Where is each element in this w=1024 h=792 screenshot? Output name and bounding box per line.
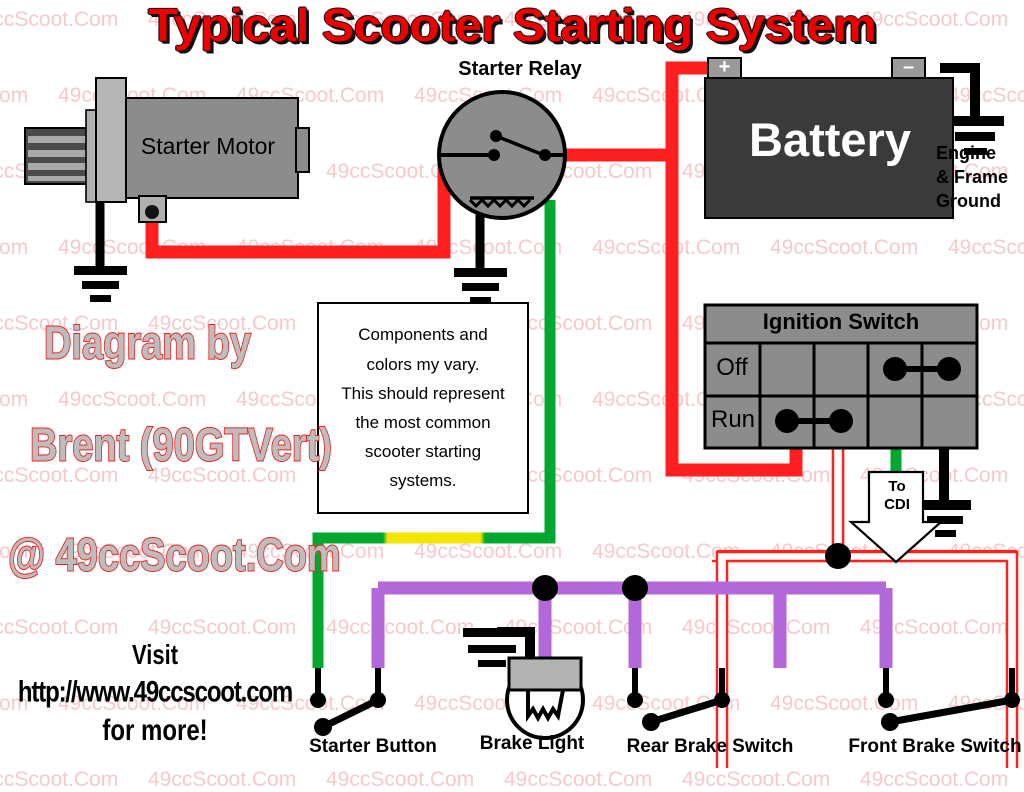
watermark-text: 49ccScoot.Com (504, 768, 652, 792)
diagram-canvas: 49ccScoot.Com49ccScoot.Com49ccScoot.Com4… (0, 0, 1024, 768)
switch-front-brake[interactable] (878, 668, 1020, 731)
component-starter-relay (439, 92, 566, 218)
page-title: Typical Scooter Starting System (0, 0, 1024, 52)
credit-line-2: Brent (90GTVert) (30, 420, 332, 472)
watermark-text: 49ccScoot.Com (148, 768, 296, 792)
note-line-5: scooter starting (365, 437, 481, 466)
junction-dot-rear-brake (622, 575, 648, 601)
note-line-6: systems. (389, 466, 456, 495)
engine-ground-line2: & Frame (936, 167, 1008, 187)
watermark-text: 49ccScoot.Com (860, 768, 1008, 792)
cdi-line2: CDI (884, 496, 910, 513)
component-brake-light (507, 658, 583, 738)
ground-starter-motor (74, 186, 127, 302)
visit-line-3: for more! (0, 714, 310, 749)
battery-negative-terminal-label: – (896, 56, 921, 79)
wire-red-white-fill-2 (722, 450, 1012, 768)
cdi-line1: To (888, 478, 905, 495)
visit-url[interactable]: http://www.49ccscoot.com (6, 675, 304, 710)
wire-red-white-outline-final (717, 448, 1017, 768)
visit-block: Visit http://www.49ccscoot.com for more! (0, 642, 310, 745)
engine-ground-label: Engine & Frame Ground (936, 142, 1024, 214)
starter-motor-label: Starter Motor (118, 133, 298, 160)
battery-positive-terminal-label: + (712, 56, 737, 79)
junction-dot-brake-light (532, 575, 558, 601)
credit-line-1: Diagram by (44, 318, 251, 370)
starter-relay-label: Starter Relay (420, 58, 620, 81)
junction-dot-red-white (825, 543, 851, 569)
ignition-row-off-label: Off (708, 354, 756, 382)
wire-red-white-outline-top (712, 448, 1017, 768)
note-line-2: colors my vary. (366, 350, 479, 379)
wire-red-white-fill (722, 448, 1012, 768)
rear-brake-switch-label: Rear Brake Switch (600, 736, 820, 758)
note-line-4: the most common (355, 408, 490, 437)
engine-ground-line3: Ground (936, 191, 1001, 211)
note-box: Components and colors my vary. This shou… (317, 302, 529, 514)
wire-relay-to-battery-positive (560, 68, 722, 155)
ignition-switch-title: Ignition Switch (705, 309, 977, 335)
watermark-text: 49ccScoot.Com (326, 768, 474, 792)
visit-line-1: Visit (0, 639, 310, 672)
switch-rear-brake[interactable] (627, 668, 730, 731)
wire-red-white-ignition-to-brakes (722, 448, 1012, 768)
credit-line-3: @ 49ccScoot.Com (8, 530, 341, 582)
note-line-3: This should represent (341, 379, 504, 408)
engine-ground-line1: Engine (936, 143, 996, 163)
brake-light-label: Brake Light (452, 733, 612, 755)
watermark-text: 49ccScoot.Com (682, 768, 830, 792)
switch-starter-button[interactable] (310, 668, 386, 736)
watermark-text: 49ccScoot.Com (0, 768, 118, 792)
to-cdi-label: To CDI (874, 478, 920, 515)
battery-label: Battery (705, 112, 955, 167)
note-line-1: Components and (358, 320, 487, 349)
title-bar: Typical Scooter Starting System (0, 0, 1024, 44)
front-brake-switch-label: Front Brake Switch (830, 736, 1024, 758)
ignition-row-run-label: Run (707, 406, 759, 434)
